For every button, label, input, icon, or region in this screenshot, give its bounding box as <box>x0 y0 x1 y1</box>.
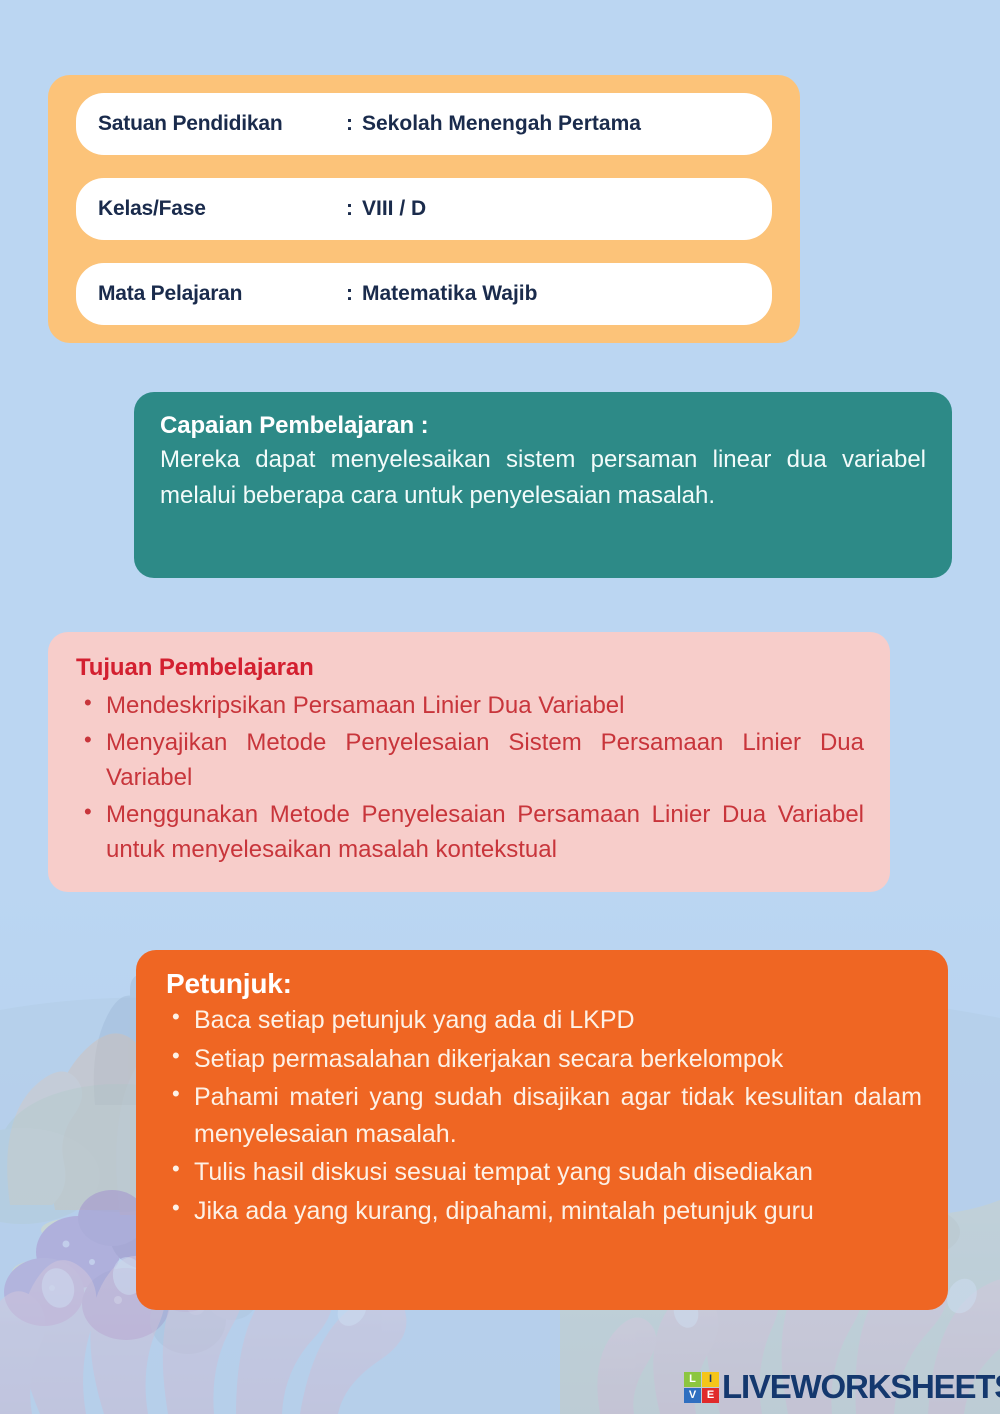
capaian-pembelajaran-card: Capaian Pembelajaran : Mereka dapat meny… <box>134 392 952 578</box>
tujuan-list: Mendeskripsikan Persamaan Linier Dua Var… <box>74 688 864 867</box>
logo-tile-l: L <box>684 1372 701 1387</box>
petunjuk-card: Petunjuk: Baca setiap petunjuk yang ada … <box>136 950 948 1310</box>
logo-tile-e: E <box>702 1388 719 1403</box>
tujuan-pembelajaran-card: Tujuan Pembelajaran Mendeskripsikan Pers… <box>48 632 890 892</box>
list-item: Jika ada yang kurang, dipahami, mintalah… <box>162 1193 922 1230</box>
info-label-satuan-pendidikan: Satuan Pendidikan <box>98 112 346 136</box>
info-value-kelas-fase: VIII / D <box>362 197 426 221</box>
list-item: Setiap permasalahan dikerjakan secara be… <box>162 1041 922 1078</box>
capaian-title: Capaian Pembelajaran : <box>160 412 926 440</box>
info-colon: : <box>346 197 362 221</box>
worksheet-page: Satuan Pendidikan : Sekolah Menengah Per… <box>0 0 1000 1414</box>
info-colon: : <box>346 112 362 136</box>
info-colon: : <box>346 282 362 306</box>
petunjuk-title: Petunjuk: <box>166 968 922 1000</box>
logo-tile-i: I <box>702 1372 719 1387</box>
info-value-mata-pelajaran: Matematika Wajib <box>362 282 537 306</box>
list-item: Pahami materi yang sudah disajikan agar … <box>162 1079 922 1152</box>
list-item: Menyajikan Metode Penyelesaian Sistem Pe… <box>74 725 864 795</box>
info-row-kelas-fase: Kelas/Fase : VIII / D <box>76 178 772 240</box>
info-row-satuan-pendidikan: Satuan Pendidikan : Sekolah Menengah Per… <box>76 93 772 155</box>
info-label-mata-pelajaran: Mata Pelajaran <box>98 282 346 306</box>
list-item: Baca setiap petunjuk yang ada di LKPD <box>162 1002 922 1039</box>
capaian-body: Mereka dapat menyelesaikan sistem persam… <box>160 442 926 513</box>
tujuan-title: Tujuan Pembelajaran <box>76 654 864 682</box>
info-row-mata-pelajaran: Mata Pelajaran : Matematika Wajib <box>76 263 772 325</box>
liveworksheets-wordmark: LIVEWORKSHEETS <box>722 1368 1000 1406</box>
info-value-satuan-pendidikan: Sekolah Menengah Pertama <box>362 112 641 136</box>
list-item: Tulis hasil diskusi sesuai tempat yang s… <box>162 1154 922 1191</box>
liveworksheets-logo: L I V E LIVEWORKSHEETS <box>684 1368 1000 1406</box>
header-info-card: Satuan Pendidikan : Sekolah Menengah Per… <box>48 75 800 343</box>
petunjuk-list: Baca setiap petunjuk yang ada di LKPD Se… <box>162 1002 922 1229</box>
logo-tile-v: V <box>684 1388 701 1403</box>
liveworksheets-logo-tiles: L I V E <box>684 1372 719 1403</box>
list-item: Mendeskripsikan Persamaan Linier Dua Var… <box>74 688 864 723</box>
list-item: Menggunakan Metode Penyelesaian Persamaa… <box>74 797 864 867</box>
info-label-kelas-fase: Kelas/Fase <box>98 197 346 221</box>
